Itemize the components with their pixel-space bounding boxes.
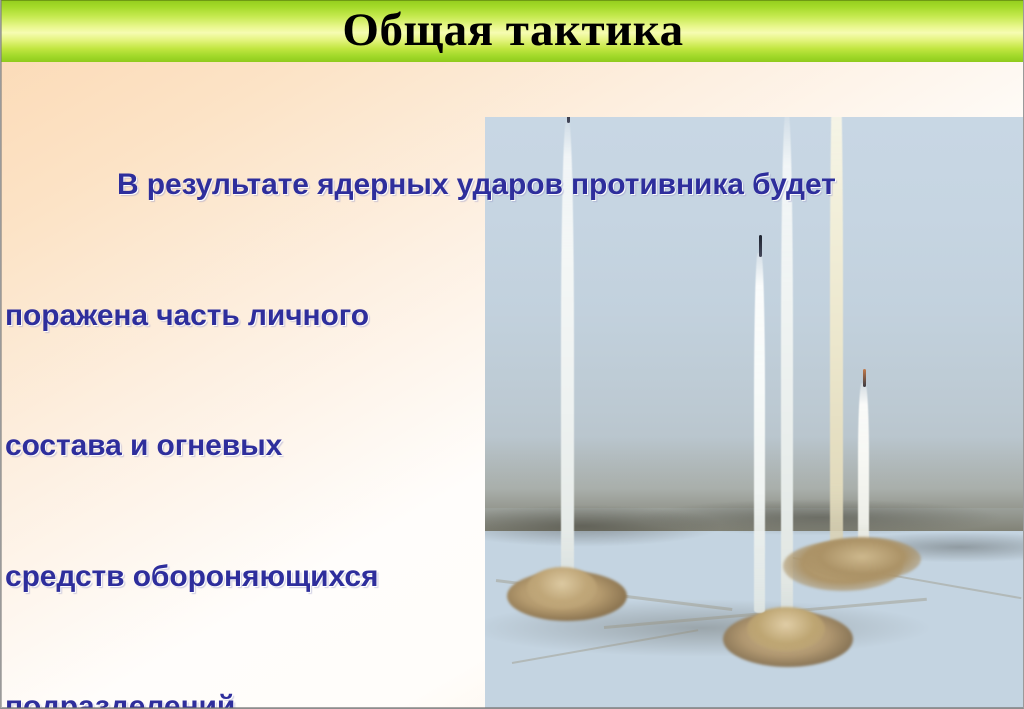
body-line: В результате ядерных ударов противника б… — [5, 163, 1023, 207]
body-line: поражена часть личного — [5, 294, 1023, 338]
page-title: Общая тактика — [342, 7, 683, 54]
presentation-slide: Общая тактика — [0, 0, 1024, 709]
body-line: состава и огневых — [5, 424, 1023, 468]
body-line: подразделений, — [5, 685, 1023, 709]
body-line: средств обороняющихся — [5, 555, 1023, 599]
title-banner: Общая тактика — [1, 0, 1024, 62]
slide-body-text: В результате ядерных ударов противника б… — [5, 76, 1023, 709]
